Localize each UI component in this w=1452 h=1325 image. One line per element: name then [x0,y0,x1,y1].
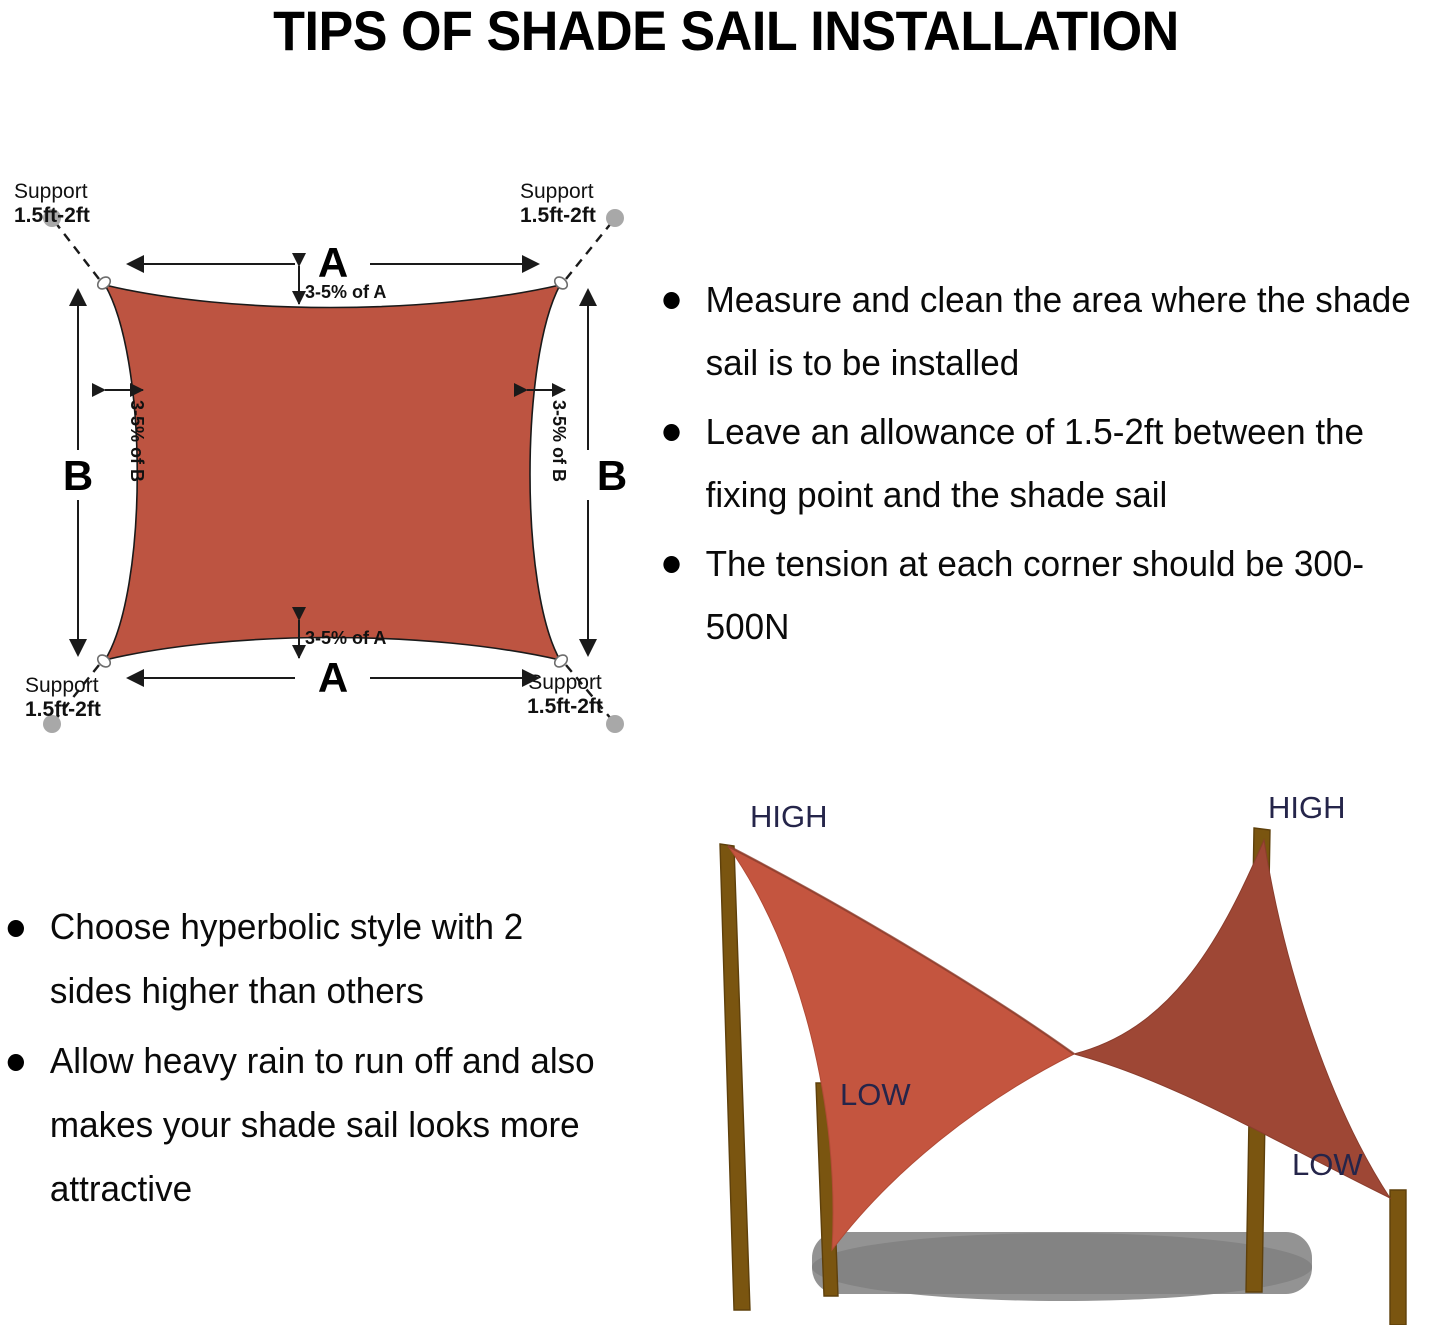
support-label-bottom-left-line2: 1.5ft-2ft [25,698,101,721]
sail-panel-front [728,846,1074,1250]
support-label-top-left-line1: Support [14,180,88,203]
pole-low-right [1390,1190,1406,1325]
tip-item: The tension at each corner should be 300… [648,532,1420,658]
support-label-bottom-right-line1: Support [528,671,602,694]
label-low-right: LOW [1292,1147,1363,1182]
support-label-bottom-left-line1: Support [25,674,99,697]
label-high-right: HIGH [1268,790,1346,825]
tip-item: Choose hyperbolic style with 2 sides hig… [0,895,614,1023]
support-label-top-left-line2: 1.5ft-2ft [14,204,90,227]
tip-text: Leave an allowance of 1.5-2ft between th… [706,411,1364,515]
bullet-icon [663,556,679,573]
tip-item: Measure and clean the area where the sha… [648,268,1420,394]
support-dot-bottom-right [606,715,624,733]
tip-list-bottom: Choose hyperbolic style with 2 sides hig… [0,895,640,1221]
bullet-icon [8,920,24,937]
tip-text: The tension at each corner should be 300… [706,543,1364,647]
dim-label-curve-right: 3-5% of B [549,400,569,482]
support-line-top-right [566,222,612,279]
support-label-bottom-right-line2: 1.5ft-2ft [527,695,603,718]
rect-sail-diagram: Support 1.5ft-2ft Support 1.5ft-2ft Supp… [0,160,660,735]
tip-item: Allow heavy rain to run off and also mak… [0,1029,614,1221]
bullet-icon [8,1054,24,1071]
sail-panel-back [1074,840,1390,1198]
bullet-icon [663,424,679,441]
tip-text: Measure and clean the area where the sha… [706,279,1411,383]
pole-high-left [720,844,750,1310]
dim-label-curve-bottom: 3-5% of A [305,628,386,648]
tips-list-top: Measure and clean the area where the sha… [648,268,1452,664]
page-title: TIPS OF SHADE SAIL INSTALLATION [51,0,1401,66]
dim-label-A-top: A [318,239,348,286]
support-label-top-right-line1: Support [520,180,594,203]
dim-label-curve-left: 3-5% of B [127,400,147,482]
label-high-left: HIGH [750,799,828,834]
dim-label-B-left: B [63,452,93,499]
support-line-top-left [55,222,99,279]
rect-sail-diagram-panel: Support 1.5ft-2ft Support 1.5ft-2ft Supp… [0,160,660,735]
tips-list-bottom: Choose hyperbolic style with 2 sides hig… [0,895,640,1227]
support-label-top-right-line2: 1.5ft-2ft [520,204,596,227]
hyperbolic-sail-diagram: HIGH HIGH LOW LOW [672,780,1452,1325]
tip-text: Choose hyperbolic style with 2 sides hig… [50,906,523,1011]
infographic-page: TIPS OF SHADE SAIL INSTALLATION [0,0,1452,1325]
support-dot-top-right [606,209,624,227]
tip-text: Allow heavy rain to run off and also mak… [50,1040,595,1209]
dim-label-curve-top: 3-5% of A [305,282,386,302]
tip-list-top: Measure and clean the area where the sha… [648,268,1452,658]
hyperbolic-sail-panel: HIGH HIGH LOW LOW [672,780,1452,1325]
shade-sail-shape [105,285,560,660]
dim-label-A-bottom: A [318,654,348,701]
bullet-icon [663,292,679,309]
tip-item: Leave an allowance of 1.5-2ft between th… [648,400,1420,526]
ground-shadow-bar [812,1232,1312,1294]
label-low-left: LOW [840,1077,911,1112]
dim-label-B-right: B [597,452,627,499]
